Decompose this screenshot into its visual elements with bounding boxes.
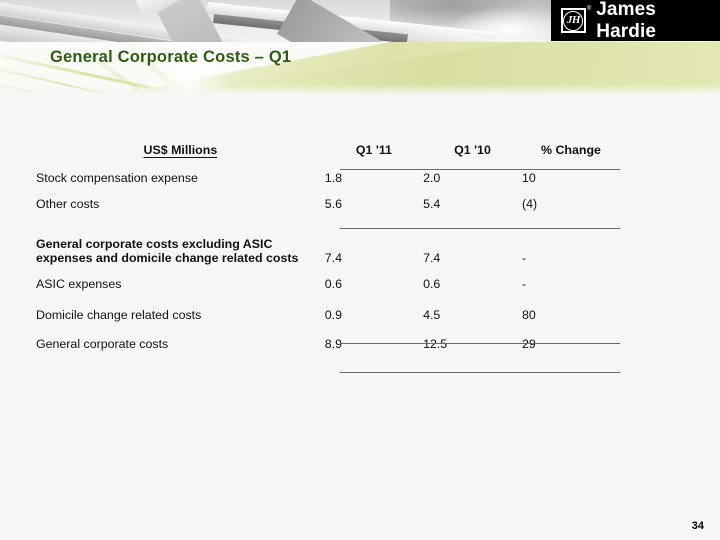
registered-trademark-icon: ® bbox=[587, 6, 591, 12]
table-rule-header bbox=[340, 169, 620, 170]
column-header-q1-10: Q1 '10 bbox=[423, 143, 522, 159]
row-label: Domicile change related costs bbox=[36, 291, 325, 322]
table-row: ASIC expenses 0.6 0.6 - bbox=[36, 265, 620, 291]
table-rule-total-bottom bbox=[340, 372, 620, 373]
row-label: General corporate costs excluding ASIC e… bbox=[36, 211, 325, 265]
row-value-pct-change: - bbox=[522, 211, 620, 265]
row-value-q1-10: 12.5 bbox=[423, 322, 522, 351]
column-header-q1-11: Q1 '11 bbox=[325, 143, 423, 159]
row-value-q1-11: 8.9 bbox=[325, 322, 423, 351]
table-rule-subtotal-top bbox=[340, 228, 620, 229]
row-value-pct-change: (4) bbox=[522, 185, 620, 211]
units-label: US$ Millions bbox=[36, 143, 325, 159]
row-value-q1-11: 0.9 bbox=[325, 291, 423, 322]
james-hardie-logo: JH ® James Hardie bbox=[551, 0, 720, 41]
financial-table: US$ Millions Q1 '11 Q1 '10 % Change Stoc… bbox=[36, 143, 626, 351]
row-value-pct-change: 10 bbox=[522, 159, 620, 185]
row-value-q1-10: 0.6 bbox=[423, 265, 522, 291]
row-value-q1-10: 7.4 bbox=[423, 211, 522, 265]
row-label: ASIC expenses bbox=[36, 265, 325, 291]
row-value-q1-10: 2.0 bbox=[423, 159, 522, 185]
slide: JH ® James Hardie General Corporate Cost… bbox=[0, 0, 720, 540]
jh-monogram-icon: JH bbox=[561, 8, 586, 33]
table-row: Stock compensation expense 1.8 2.0 10 bbox=[36, 159, 620, 185]
costs-table: US$ Millions Q1 '11 Q1 '10 % Change Stoc… bbox=[36, 143, 620, 351]
row-value-q1-11: 5.6 bbox=[325, 185, 423, 211]
jh-monogram-ring: JH bbox=[563, 11, 583, 31]
table-row: General corporate costs 8.9 12.5 29 bbox=[36, 322, 620, 351]
column-header-pct-change: % Change bbox=[522, 143, 620, 159]
row-value-q1-11: 1.8 bbox=[325, 159, 423, 185]
row-value-q1-10: 4.5 bbox=[423, 291, 522, 322]
row-value-q1-10: 5.4 bbox=[423, 185, 522, 211]
logo-wordmark: James Hardie bbox=[596, 0, 720, 43]
page-number: 34 bbox=[692, 520, 704, 532]
row-label: General corporate costs bbox=[36, 322, 325, 351]
table-row: General corporate costs excluding ASIC e… bbox=[36, 211, 620, 265]
row-value-q1-11: 7.4 bbox=[325, 211, 423, 265]
page-title: General Corporate Costs – Q1 bbox=[50, 48, 291, 67]
row-value-pct-change: - bbox=[522, 265, 620, 291]
row-label: Stock compensation expense bbox=[36, 159, 325, 185]
table-header-row: US$ Millions Q1 '11 Q1 '10 % Change bbox=[36, 143, 620, 159]
row-value-pct-change: 80 bbox=[522, 291, 620, 322]
banner-bottom-fade bbox=[0, 84, 720, 97]
jh-monogram-letters: JH bbox=[567, 15, 580, 26]
row-value-q1-11: 0.6 bbox=[325, 265, 423, 291]
table-row: Domicile change related costs 0.9 4.5 80 bbox=[36, 291, 620, 322]
row-value-pct-change: 29 bbox=[522, 322, 620, 351]
table-rule-total-top bbox=[340, 343, 620, 344]
row-label: Other costs bbox=[36, 185, 325, 211]
table-row: Other costs 5.6 5.4 (4) bbox=[36, 185, 620, 211]
